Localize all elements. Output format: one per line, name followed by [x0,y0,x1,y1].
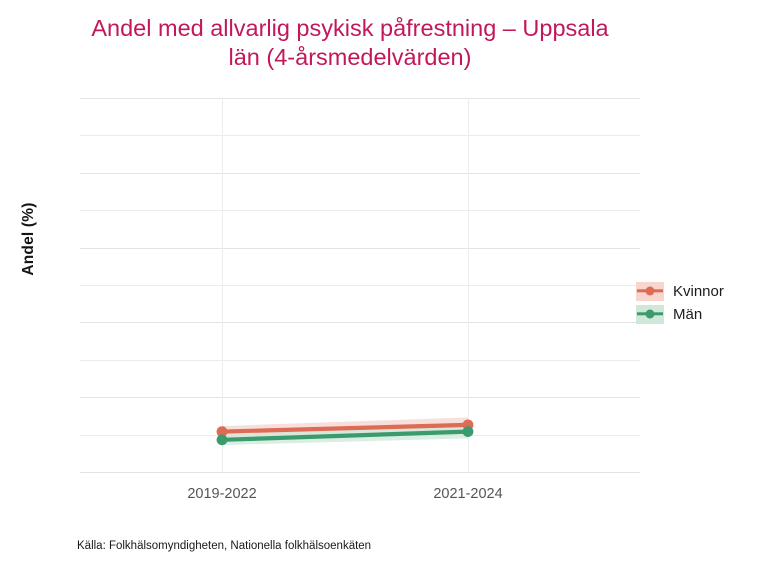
legend-item-män[interactable]: Män [636,303,764,325]
legend-item-label: Kvinnor [673,283,724,300]
chart-canvas: Andel med allvarlig psykisk påfrestning … [0,0,768,576]
data-point [463,426,474,437]
legend-marker-dot [646,287,655,296]
chart-title: Andel med allvarlig psykisk påfrestning … [40,14,660,72]
chart-legend: KvinnorMän [636,280,764,326]
x-tick-label: 2021-2024 [433,486,502,502]
legend-marker-dot [646,310,655,319]
legend-item-kvinnor[interactable]: Kvinnor [636,280,764,302]
series-line-män [80,98,640,472]
plot-area: 020406080100 2019-20222021-2024 [80,98,640,472]
y-axis-label: Andel (%) [20,184,38,294]
gridline-major [80,472,640,473]
legend-item-label: Män [673,306,702,323]
data-point [217,434,228,445]
source-note: Källa: Folkhälsomyndigheten, Nationella … [77,540,371,552]
x-tick-label: 2019-2022 [187,486,256,502]
legend-swatch-icon [636,305,664,324]
legend-swatch-icon [636,282,664,301]
